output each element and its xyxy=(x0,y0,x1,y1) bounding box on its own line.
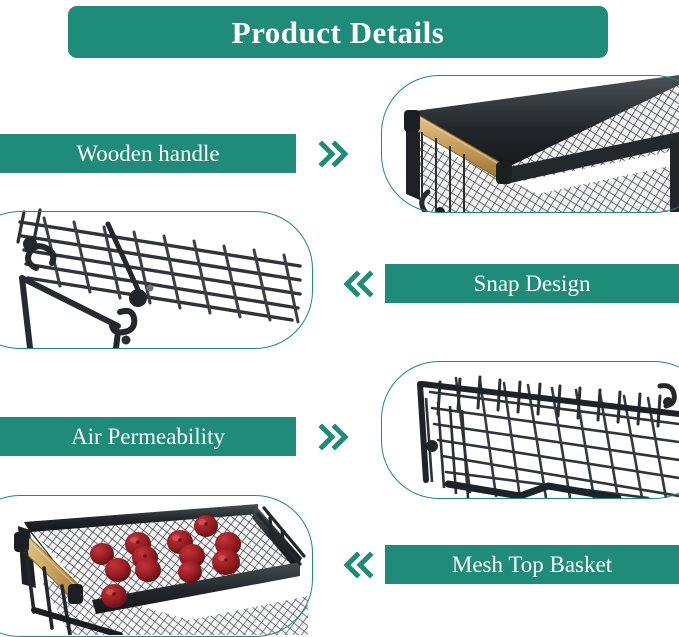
chevron-double-right-icon xyxy=(318,422,352,452)
photo-air-permeability xyxy=(378,358,679,498)
photo-snap-design xyxy=(0,208,320,348)
feature-label-mesh-top-basket: Mesh Top Basket xyxy=(385,545,679,584)
page-title-banner: Product Details xyxy=(68,6,608,58)
feature-label-text: Mesh Top Basket xyxy=(452,553,612,576)
feature-label-text: Snap Design xyxy=(474,272,591,295)
photo-mesh-top-basket xyxy=(0,492,320,635)
feature-label-text: Air Permeability xyxy=(71,425,225,448)
photo-wooden-handle xyxy=(378,72,679,212)
feature-label-air-permeability: Air Permeability xyxy=(0,417,296,456)
feature-label-text: Wooden handle xyxy=(76,142,219,165)
chevron-double-left-icon xyxy=(340,550,374,580)
feature-label-snap-design: Snap Design xyxy=(385,264,679,303)
chevron-double-right-icon xyxy=(318,139,352,169)
page-title: Product Details xyxy=(232,17,445,48)
product-details-infographic: Product Details Wooden handle xyxy=(0,0,679,635)
chevron-double-left-icon xyxy=(340,269,374,299)
feature-label-wooden-handle: Wooden handle xyxy=(0,134,296,173)
